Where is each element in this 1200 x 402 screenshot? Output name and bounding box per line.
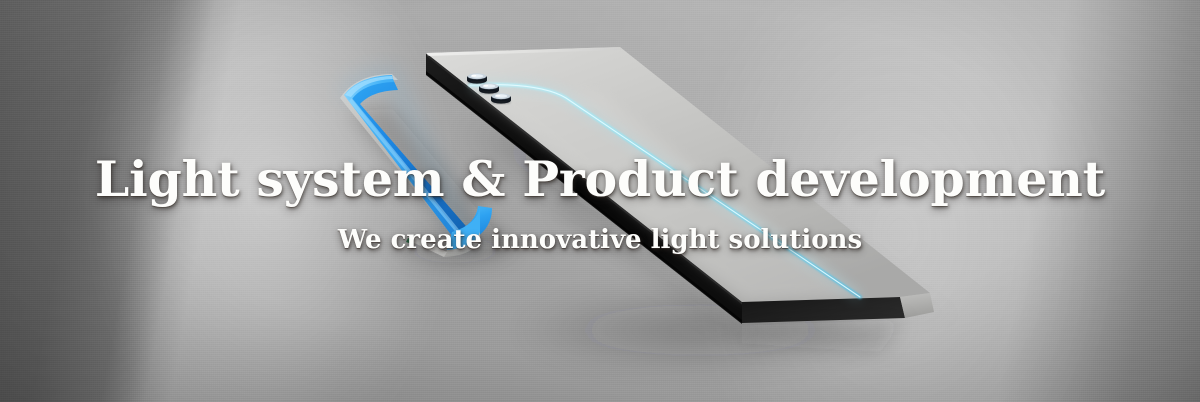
hero-copy: Light system & Product development We cr… bbox=[0, 0, 1200, 402]
page-subtitle: We create innovative light solutions bbox=[338, 227, 862, 253]
page-title: Light system & Product development bbox=[95, 155, 1105, 204]
hero-banner: Light system & Product development We cr… bbox=[0, 0, 1200, 402]
